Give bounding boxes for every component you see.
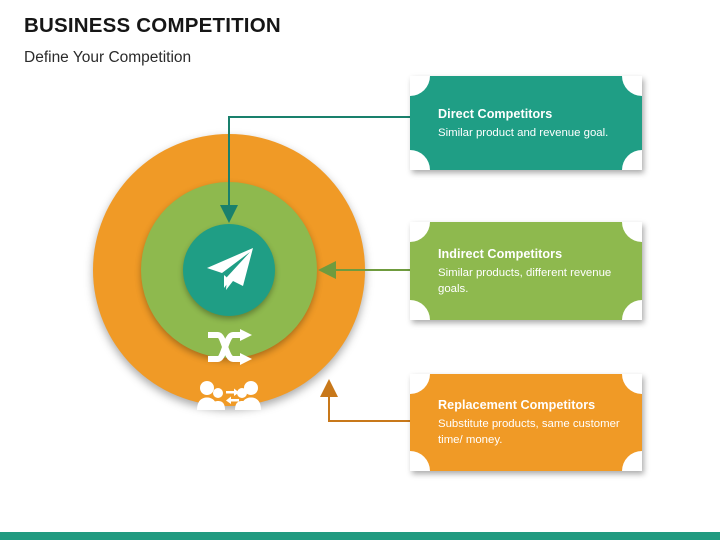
callout-title: Replacement Competitors bbox=[438, 398, 620, 412]
notch-bottom-right bbox=[622, 451, 642, 471]
notch-bottom-left bbox=[410, 300, 430, 320]
callout-description: Substitute products, same customer time/… bbox=[438, 417, 620, 448]
notch-bottom-left bbox=[410, 451, 430, 471]
notch-bottom-right bbox=[622, 300, 642, 320]
callout-title: Indirect Competitors bbox=[438, 247, 620, 261]
notch-bottom-right bbox=[622, 150, 642, 170]
callout-indirect-competitors[interactable]: Indirect Competitors Similar products, d… bbox=[410, 222, 642, 320]
notch-bottom-left bbox=[410, 150, 430, 170]
paper-plane-icon bbox=[197, 240, 261, 300]
shuffle-icon bbox=[203, 327, 255, 367]
notch-top-right bbox=[622, 76, 642, 96]
callout-replacement-competitors[interactable]: Replacement Competitors Substitute produ… bbox=[410, 374, 642, 471]
notch-top-right bbox=[622, 374, 642, 394]
notch-top-left bbox=[410, 76, 430, 96]
callout-description: Similar products, different revenue goal… bbox=[438, 266, 620, 297]
callout-title: Direct Competitors bbox=[438, 107, 620, 121]
notch-top-left bbox=[410, 222, 430, 242]
bottom-accent-bar bbox=[0, 532, 720, 540]
people-exchange-icon bbox=[193, 378, 265, 412]
callout-description: Similar product and revenue goal. bbox=[438, 126, 620, 142]
notch-top-right bbox=[622, 222, 642, 242]
callout-direct-competitors[interactable]: Direct Competitors Similar product and r… bbox=[410, 76, 642, 170]
competition-rings-diagram bbox=[0, 0, 460, 540]
notch-top-left bbox=[410, 374, 430, 394]
